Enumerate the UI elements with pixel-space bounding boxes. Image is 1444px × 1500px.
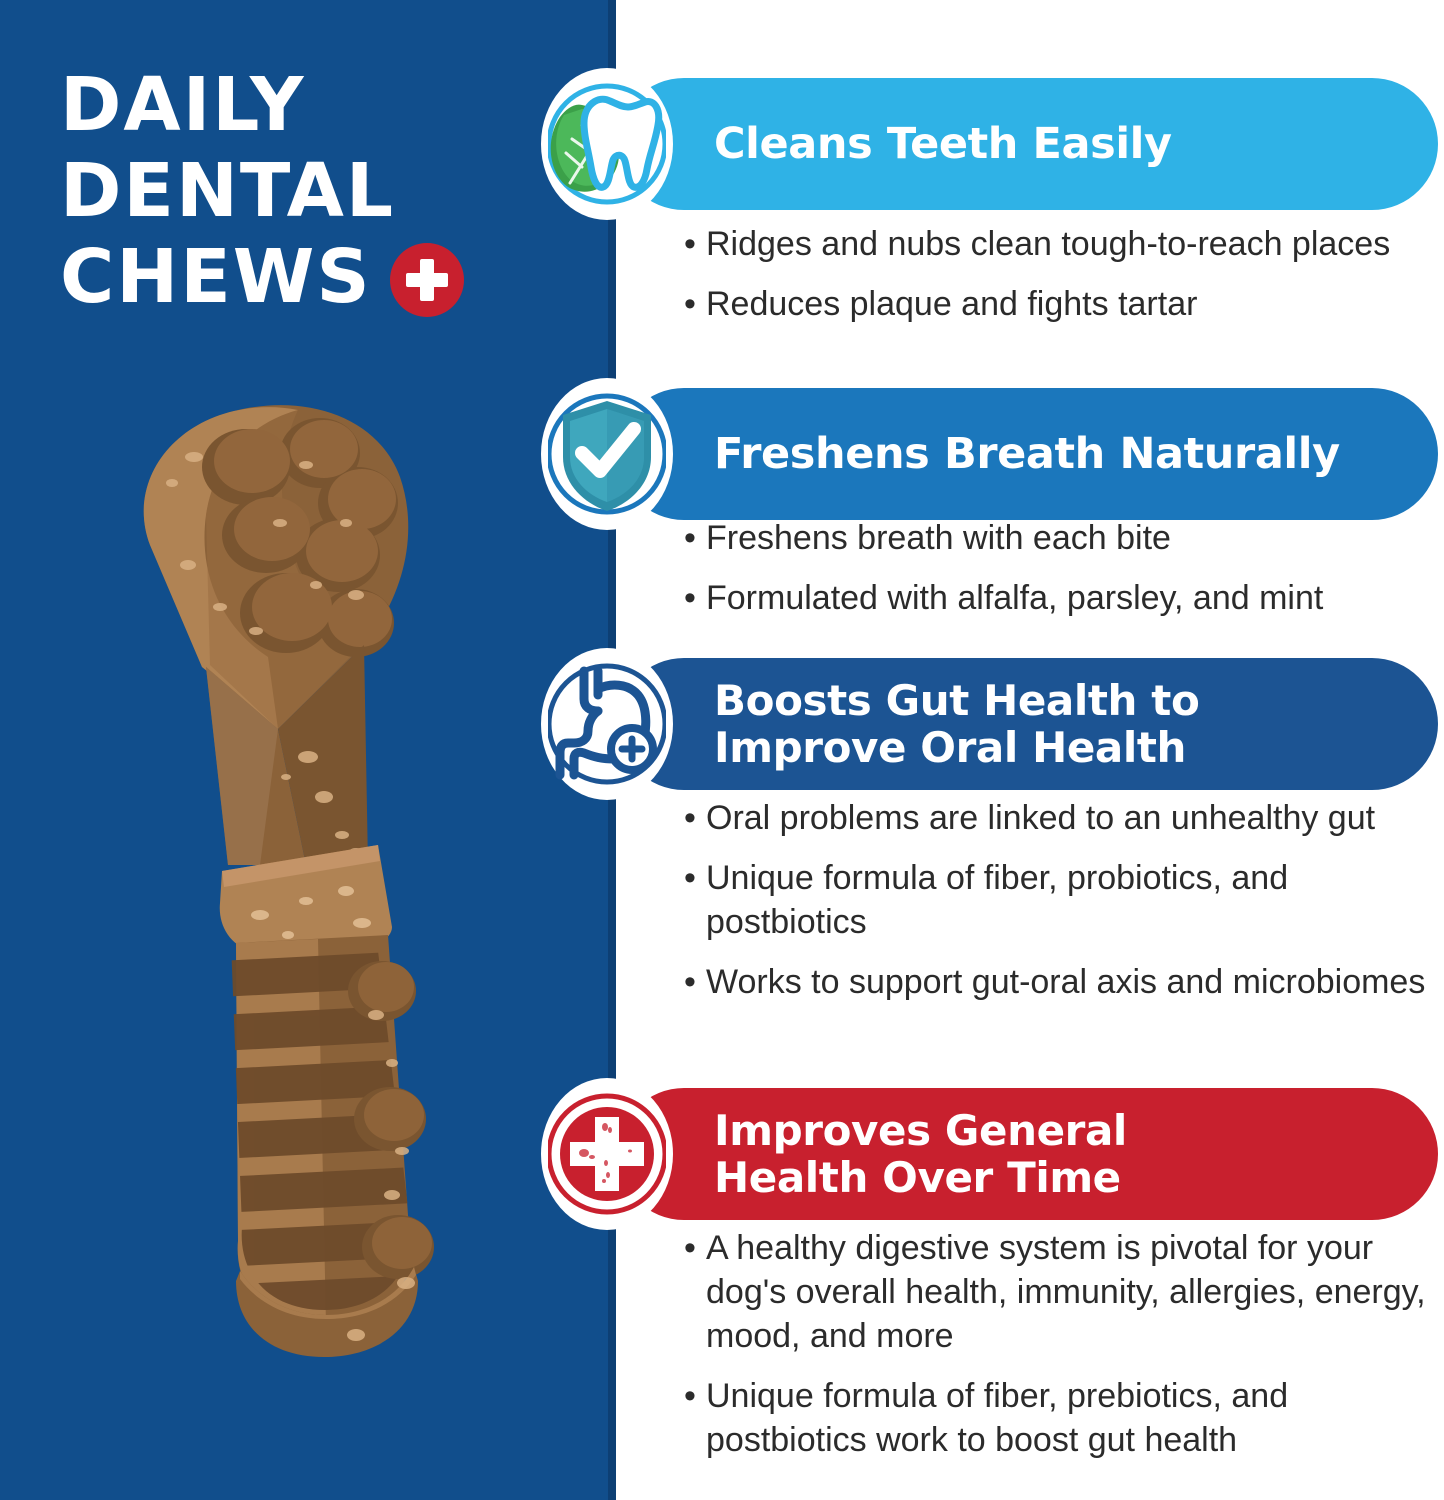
bullet-text: Unique formula of fiber, probiotics, and… <box>706 856 1444 944</box>
banner-title-boosts-gut-health: Boosts Gut Health to Improve Oral Health <box>714 677 1199 771</box>
banner-title-line-2: Health Over Time <box>714 1154 1127 1201</box>
bullet-marker: • <box>684 960 706 1004</box>
bullets-cleans-teeth: • Ridges and nubs clean tough-to-reach p… <box>684 222 1444 342</box>
tooth-with-mint-leaf-icon <box>541 68 673 220</box>
bullet-item: • Unique formula of fiber, prebiotics, a… <box>684 1374 1444 1462</box>
bullet-text: Reduces plaque and fights tartar <box>706 282 1444 326</box>
infographic-root: DAILY DENTAL CHEWS <box>0 0 1444 1500</box>
bullet-text: Formulated with alfalfa, parsley, and mi… <box>706 576 1444 620</box>
bullet-text: Unique formula of fiber, prebiotics, and… <box>706 1374 1444 1462</box>
bullet-text: Freshens breath with each bite <box>706 516 1444 560</box>
bullet-marker: • <box>684 576 706 620</box>
bullet-text: A healthy digestive system is pivotal fo… <box>706 1226 1444 1358</box>
banner-boosts-gut-health[interactable]: Boosts Gut Health to Improve Oral Health <box>618 658 1438 790</box>
bullet-item: • Freshens breath with each bite <box>684 516 1444 560</box>
bullet-marker: • <box>684 222 706 266</box>
bullets-boosts-gut-health: • Oral problems are linked to an unhealt… <box>684 796 1444 1020</box>
bullet-item: • Ridges and nubs clean tough-to-reach p… <box>684 222 1444 266</box>
banner-title-improves-general-health: Improves General Health Over Time <box>714 1107 1127 1201</box>
shield-check-icon <box>541 378 673 530</box>
bullet-item: • Unique formula of fiber, probiotics, a… <box>684 856 1444 944</box>
bullet-marker: • <box>684 796 706 840</box>
bullet-item: • Reduces plaque and fights tartar <box>684 282 1444 326</box>
bullet-item: • Works to support gut-oral axis and mic… <box>684 960 1444 1004</box>
bullet-marker: • <box>684 282 706 326</box>
bullet-marker: • <box>684 516 706 560</box>
bullet-marker: • <box>684 1374 706 1418</box>
banner-title-cleans-teeth: Cleans Teeth Easily <box>714 121 1172 167</box>
features-column: Cleans Teeth Easily <box>0 0 1444 1500</box>
bullet-text: Ridges and nubs clean tough-to-reach pla… <box>706 222 1444 266</box>
bullet-item: • Formulated with alfalfa, parsley, and … <box>684 576 1444 620</box>
banner-improves-general-health[interactable]: Improves General Health Over Time <box>618 1088 1438 1220</box>
bullet-text: Works to support gut-oral axis and micro… <box>706 960 1444 1004</box>
stomach-plus-icon <box>541 648 673 800</box>
banner-title-line-2: Improve Oral Health <box>714 724 1199 771</box>
bullet-marker: • <box>684 1226 706 1270</box>
banner-title-line-1: Boosts Gut Health to <box>714 677 1199 724</box>
bullet-text: Oral problems are linked to an unhealthy… <box>706 796 1444 840</box>
banner-freshens-breath[interactable]: Freshens Breath Naturally <box>618 388 1438 520</box>
bullets-freshens-breath: • Freshens breath with each bite • Formu… <box>684 516 1444 636</box>
bullets-improves-general-health: • A healthy digestive system is pivotal … <box>684 1226 1444 1478</box>
banner-title-line-1: Improves General <box>714 1107 1127 1154</box>
banner-cleans-teeth[interactable]: Cleans Teeth Easily <box>618 78 1438 210</box>
medical-cross-circle-icon <box>541 1078 673 1230</box>
bullet-item: • A healthy digestive system is pivotal … <box>684 1226 1444 1358</box>
bullet-marker: • <box>684 856 706 900</box>
bullet-item: • Oral problems are linked to an unhealt… <box>684 796 1444 840</box>
banner-title-freshens-breath: Freshens Breath Naturally <box>714 431 1340 477</box>
